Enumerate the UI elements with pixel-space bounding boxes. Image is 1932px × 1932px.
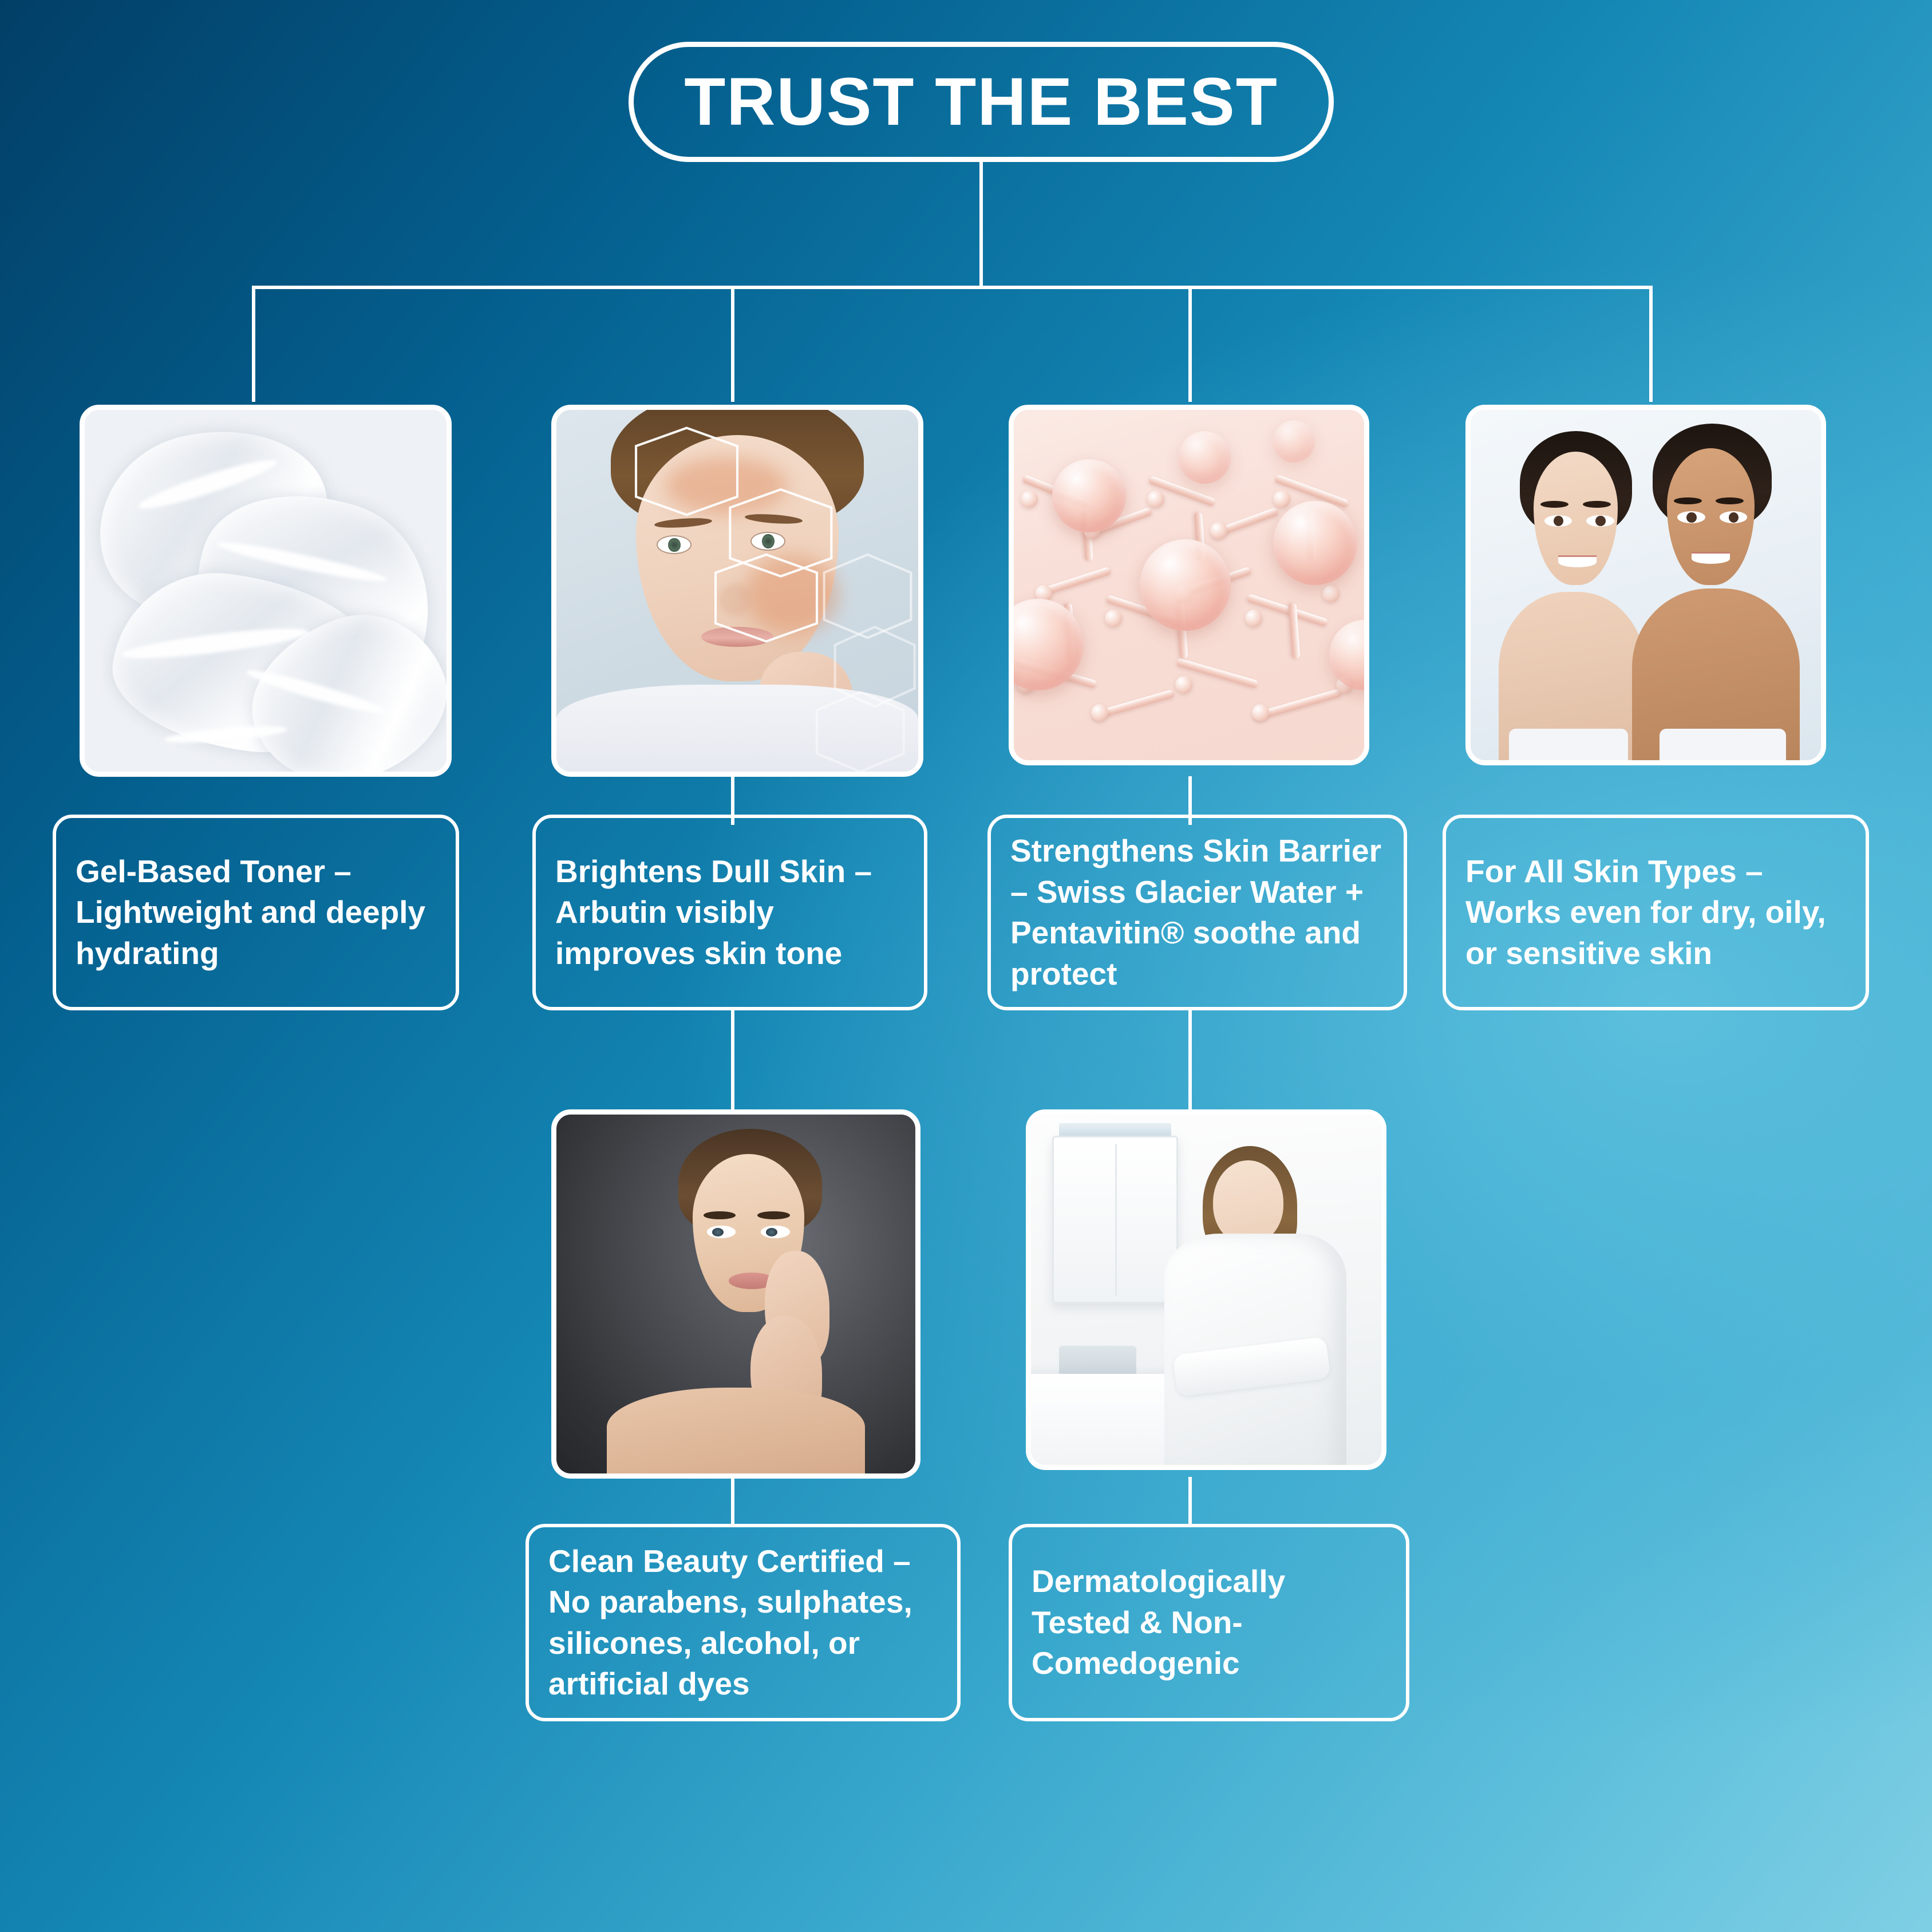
node-text-for-all-skin-types: For All Skin Types – Works even for dry,… [1465,851,1846,974]
dermatologist-lab-coat-photo [1031,1115,1381,1465]
pink-molecule-lattice-photo [1014,410,1364,760]
clear-gel-texture-photo [85,410,447,772]
node-card-strengthens-skin-barrier: Strengthens Skin Barrier – Swiss Glacier… [987,815,1407,1010]
connector-card3-to-photo6 [1188,1009,1192,1113]
node-text-brightens-dull-skin: Brightens Dull Skin – Arbutin visibly im… [555,851,904,974]
connector-photo6-to-card6 [1188,1477,1192,1526]
two-smiling-women-photo [1471,410,1821,760]
connector-horizontal-bus [252,286,1653,289]
infographic-canvas: TRUST THE BEST [0,0,1932,1932]
page-title: TRUST THE BEST [629,42,1334,162]
connector-drop-1 [252,286,255,402]
node-card-for-all-skin-types: For All Skin Types – Works even for dry,… [1443,815,1869,1010]
woman-face-hexagon-overlay-photo [556,410,918,772]
node-image-dermatologically-tested [1026,1109,1386,1470]
hexagon-overlay-icon [556,410,918,772]
woman-dark-background-photo [556,1115,915,1473]
node-card-dermatologically-tested: Dermatologically Tested & Non-Comedogeni… [1009,1524,1409,1721]
connector-card2-to-photo5 [731,1009,734,1113]
node-image-gel-based-toner [80,405,452,777]
node-image-clean-beauty-certified [551,1109,920,1479]
page-title-text: TRUST THE BEST [684,68,1278,136]
node-image-for-all-skin-types [1465,405,1826,765]
node-card-clean-beauty-certified: Clean Beauty Certified – No parabens, su… [526,1524,961,1721]
node-text-gel-based-toner: Gel-Based Toner – Lightweight and deeply… [76,851,436,974]
node-image-strengthens-skin-barrier [1009,405,1369,765]
connector-drop-4 [1649,286,1653,402]
connector-title-stem [979,162,983,289]
node-text-dermatologically-tested: Dermatologically Tested & Non-Comedogeni… [1032,1561,1386,1684]
connector-drop-3 [1188,286,1192,402]
node-card-gel-based-toner: Gel-Based Toner – Lightweight and deeply… [53,815,459,1010]
node-text-clean-beauty-certified: Clean Beauty Certified – No parabens, su… [548,1541,938,1705]
node-image-brightens-dull-skin [551,405,923,777]
connector-photo5-to-card5 [731,1477,734,1526]
node-text-strengthens-skin-barrier: Strengthens Skin Barrier – Swiss Glacier… [1010,831,1384,994]
node-card-brightens-dull-skin: Brightens Dull Skin – Arbutin visibly im… [532,815,927,1010]
connector-drop-2 [731,286,734,402]
